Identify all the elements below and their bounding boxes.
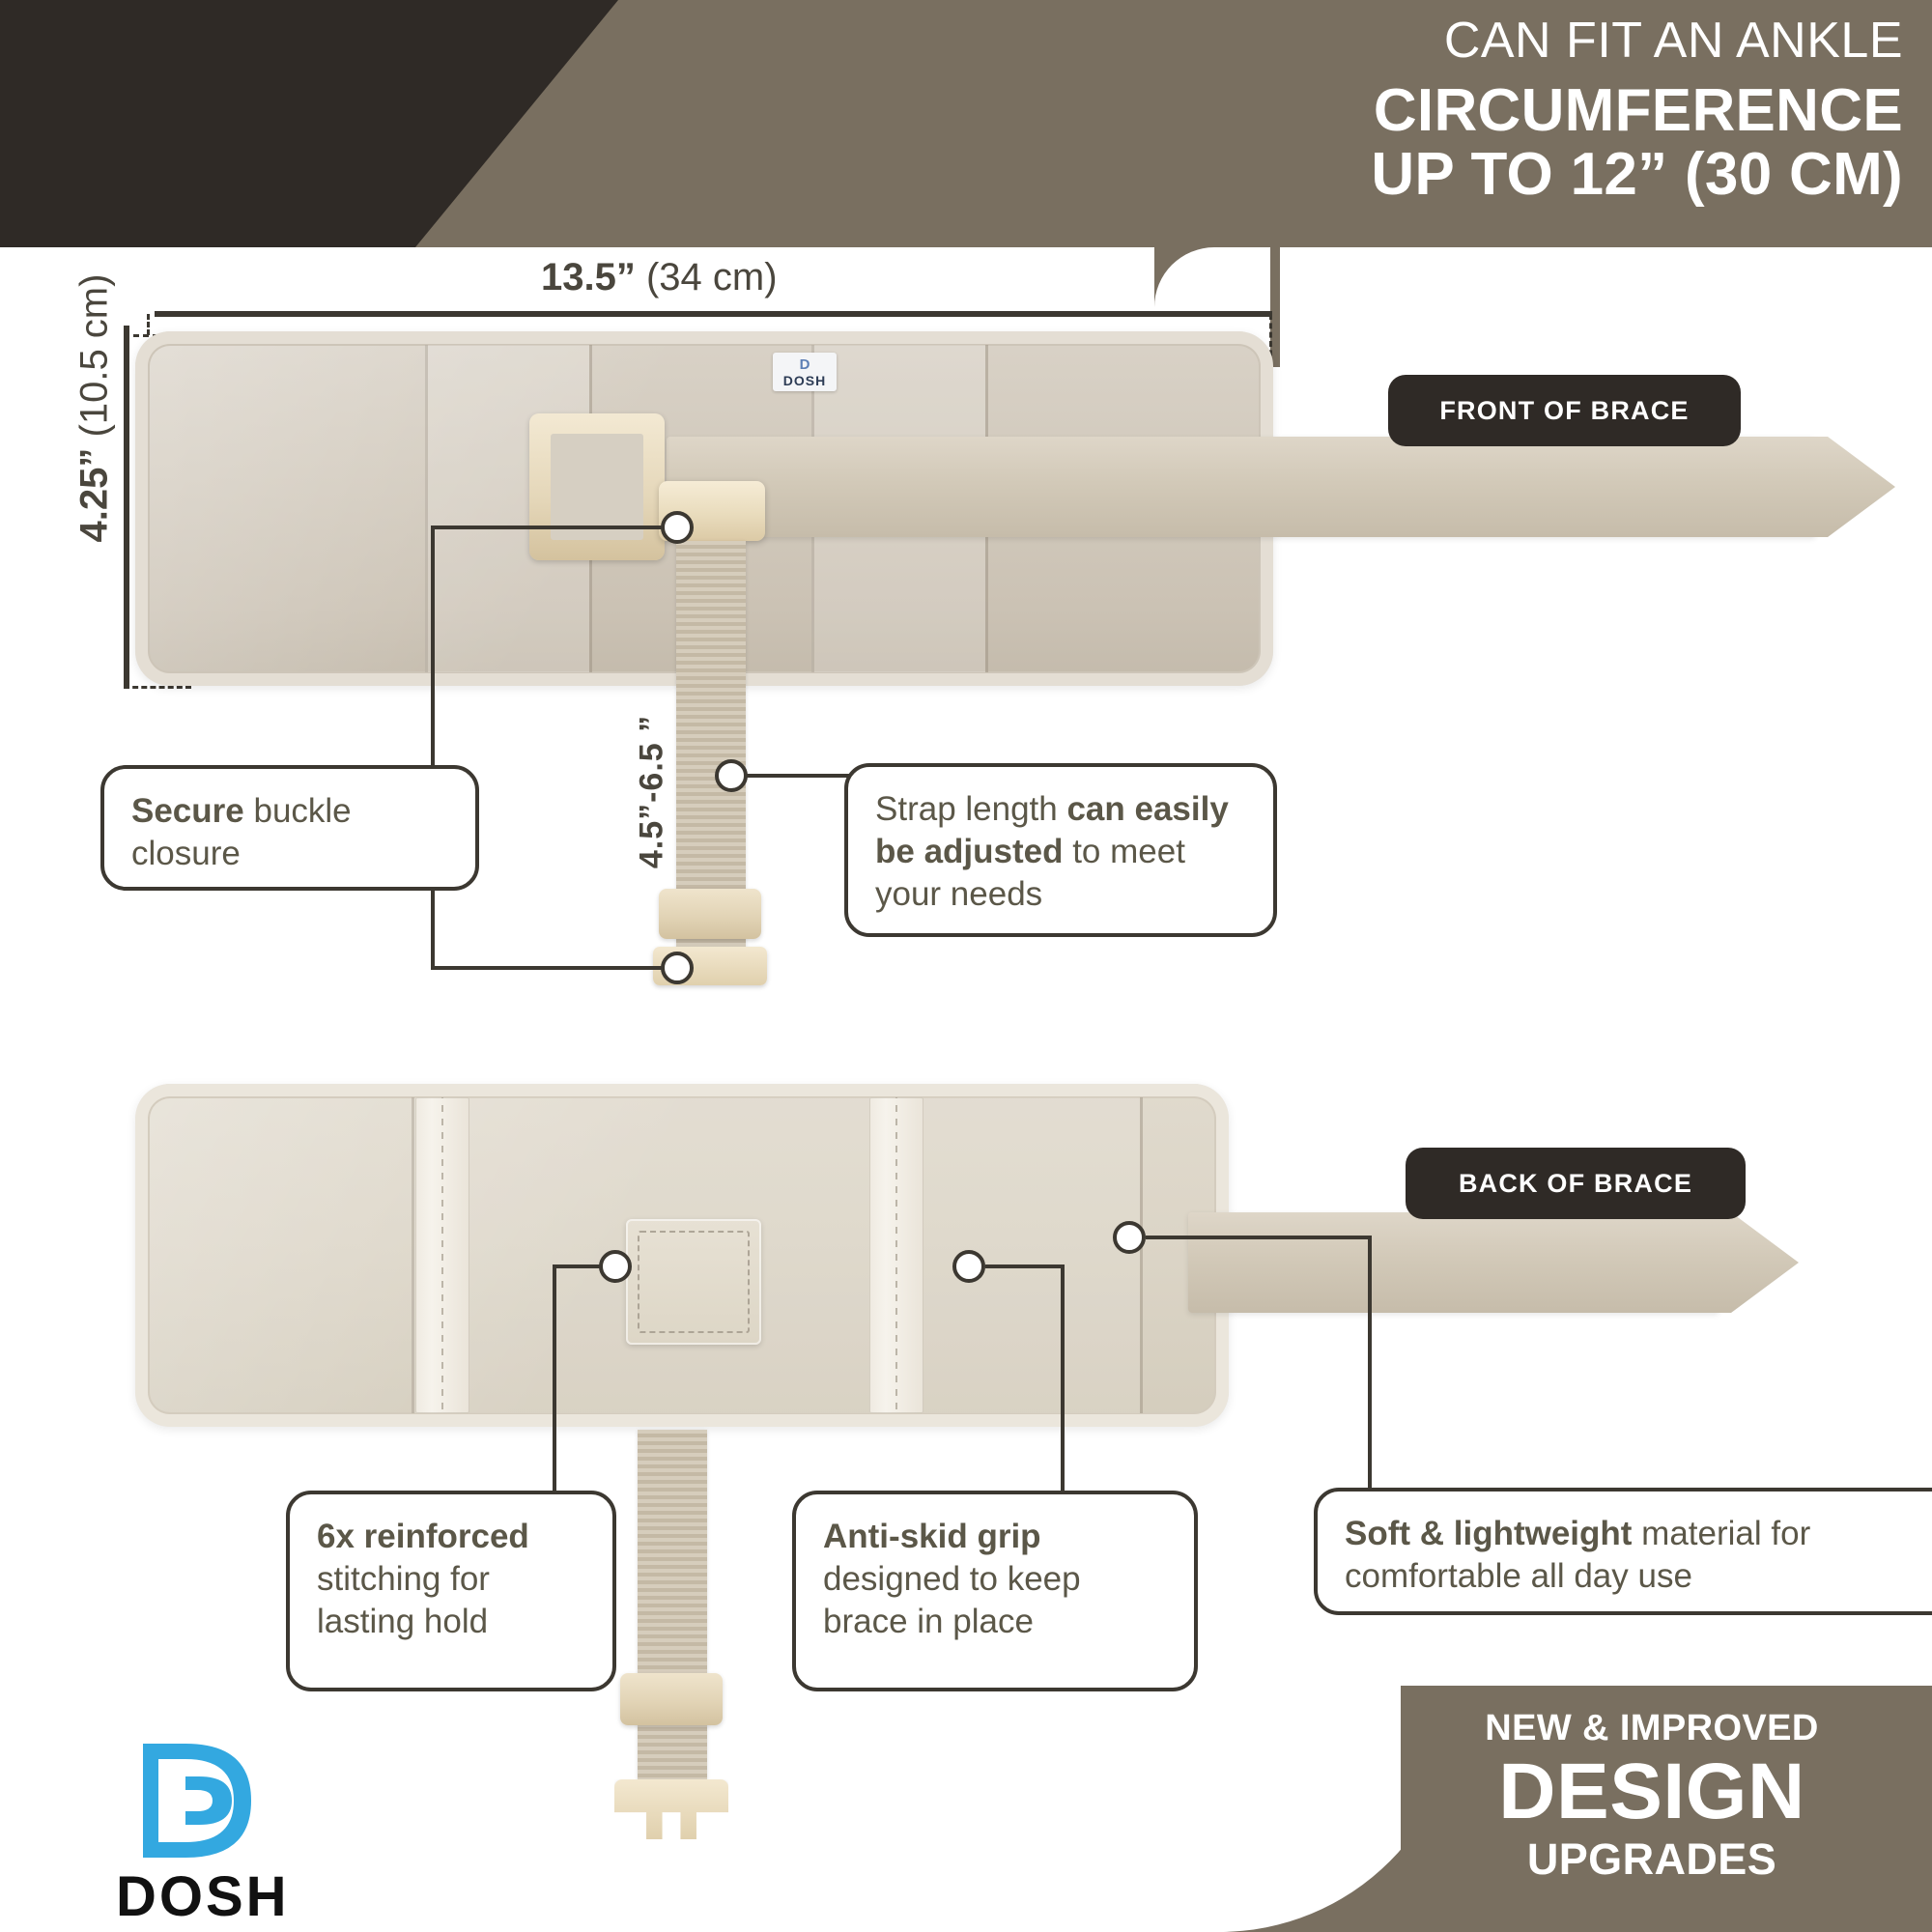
callout-stitching-bold: 6x reinforced [317, 1518, 529, 1555]
callout-strap-length: Strap length can easily be adjusted to m… [844, 763, 1277, 937]
badge-back-of-brace: BACK OF BRACE [1406, 1148, 1746, 1219]
height-value: 4.25” [73, 448, 116, 543]
callout-leader-stitching-h [553, 1264, 603, 1268]
header-line-1: CAN FIT AN ANKLE [976, 15, 1903, 66]
callout-reinforced-stitching: 6x reinforced stitching for lasting hold [286, 1491, 616, 1691]
callout-secure-bold: Secure [131, 792, 244, 830]
height-metric: (10.5 cm) [73, 274, 116, 438]
callout-leader-grip-h [985, 1264, 1065, 1268]
back-adjustment-webbing [638, 1430, 707, 1797]
callout-leader-material-h [1146, 1236, 1372, 1239]
anti-skid-grip-strip-left [415, 1097, 469, 1413]
footer-line-2: DESIGN [1381, 1751, 1922, 1833]
header-line-2: CIRCUMFERENCE [976, 79, 1903, 143]
callout-leader-buckle-h [431, 526, 665, 529]
callout-dot-strap [715, 759, 748, 792]
strap-length-label: 4.5”-6.5 ” [634, 681, 671, 903]
callout-leader-buckle-bottom-v [431, 887, 435, 968]
width-value: 13.5” [541, 256, 636, 298]
header-line-3: UP TO 12” (30 CM) [976, 143, 1903, 207]
footer-line-3: UPGRADES [1381, 1834, 1922, 1885]
dimension-tick-left-lower [124, 686, 191, 689]
back-buckle-prongs [614, 1779, 728, 1839]
infographic-canvas: CAN FIT AN ANKLE CIRCUMFERENCE UP TO 12”… [0, 0, 1932, 1932]
width-dimension-label: 13.5” (34 cm) [541, 256, 778, 299]
callout-dot-material [1113, 1221, 1146, 1254]
back-webbing-slider [620, 1673, 723, 1725]
width-metric: (34 cm) [646, 256, 778, 298]
callout-dot-buckle-bottom [661, 952, 694, 984]
callout-dot-grip [952, 1250, 985, 1283]
callout-leader-strap [746, 774, 850, 778]
width-dimension-line [155, 311, 1272, 317]
callout-strap-prefix: Strap length [875, 790, 1066, 828]
callout-material-bold: Soft & lightweight [1345, 1515, 1632, 1552]
webbing-slider [659, 889, 761, 939]
dosh-logo-wordmark: DOSH [116, 1864, 290, 1929]
badge-front-of-brace: FRONT OF BRACE [1388, 375, 1741, 446]
height-dimension-label: 4.25” (10.5 cm) [73, 264, 117, 554]
callout-grip-rest: designed to keep brace in place [823, 1560, 1081, 1640]
callout-dot-stitching [599, 1250, 632, 1283]
callout-stitching-rest: stitching for lasting hold [317, 1560, 490, 1640]
callout-anti-skid-grip: Anti-skid grip designed to keep brace in… [792, 1491, 1198, 1691]
callout-dot-buckle [661, 511, 694, 544]
footer-banner-text-group: NEW & IMPROVED DESIGN UPGRADES [1381, 1708, 1922, 1885]
brace-front-strap [667, 437, 1816, 537]
anti-skid-grip-strip-right [869, 1097, 923, 1413]
brace-back-strap [1188, 1212, 1719, 1313]
footer-line-1: NEW & IMPROVED [1381, 1708, 1922, 1749]
callout-leader-grip-v [1061, 1264, 1065, 1494]
callout-leader-stitching-v [553, 1264, 556, 1494]
header-title-group: CAN FIT AN ANKLE CIRCUMFERENCE UP TO 12”… [976, 15, 1903, 206]
care-tag-brand: DOSH [783, 374, 826, 387]
callout-grip-bold: Anti-skid grip [823, 1518, 1041, 1555]
callout-soft-lightweight: Soft & lightweight material for comforta… [1314, 1488, 1932, 1615]
d-ring-buckle [529, 413, 665, 560]
callout-leader-buckle-bottom-h [431, 966, 665, 970]
callout-secure-buckle-closure: Secure buckle closure [100, 765, 479, 891]
product-care-tag: D DOSH [773, 353, 837, 391]
height-dimension-line [124, 326, 129, 688]
brace-back-strap-tip [1696, 1212, 1799, 1313]
brace-front-strap-tip [1793, 437, 1895, 537]
care-tag-mark: D [800, 357, 810, 372]
dimension-tick-top-left [147, 314, 150, 335]
callout-leader-material-v [1368, 1236, 1372, 1491]
reinforced-stitching-tab [626, 1219, 761, 1345]
